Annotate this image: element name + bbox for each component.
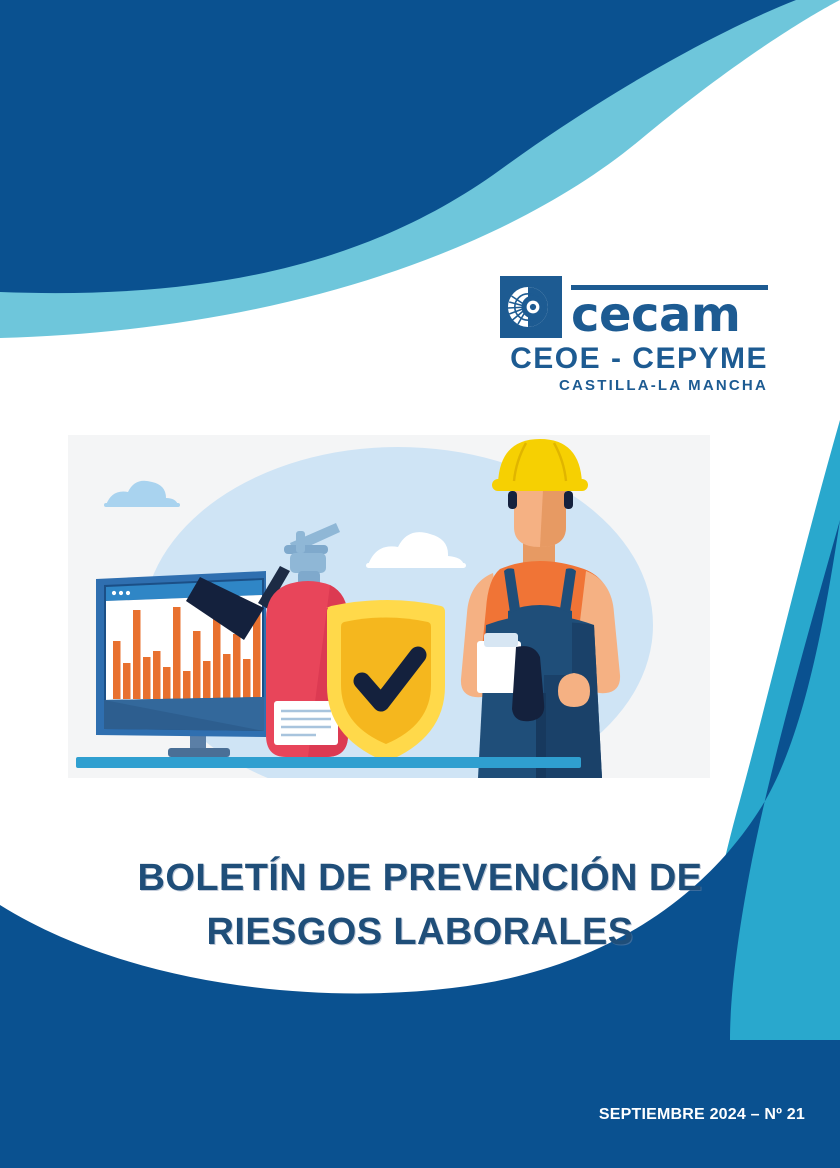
issue-label: SEPTIEMBRE 2024 – Nº 21 <box>599 1106 805 1124</box>
cecam-subtitle-ceoe-cepyme: CEOE - CEPYME <box>500 343 768 375</box>
newsletter-cover-page: cecam CEOE - CEPYME CASTILLA-LA MANCHA <box>0 0 840 1168</box>
page-title-line-2: RIESGOS LABORALES <box>0 906 840 960</box>
page-title: BOLETÍN DE PREVENCIÓN DE RIESGOS LABORAL… <box>0 852 840 960</box>
workplace-safety-illustration <box>68 435 710 778</box>
page-title-line-1: BOLETÍN DE PREVENCIÓN DE <box>0 852 840 906</box>
cecam-subtitle-region: CASTILLA-LA MANCHA <box>500 377 768 394</box>
cecam-wordmark: cecam <box>571 292 768 338</box>
floor-bar <box>76 757 581 768</box>
cecam-logo: cecam CEOE - CEPYME CASTILLA-LA MANCHA <box>500 276 768 394</box>
cecam-sun-gear-mark-icon <box>500 276 562 338</box>
